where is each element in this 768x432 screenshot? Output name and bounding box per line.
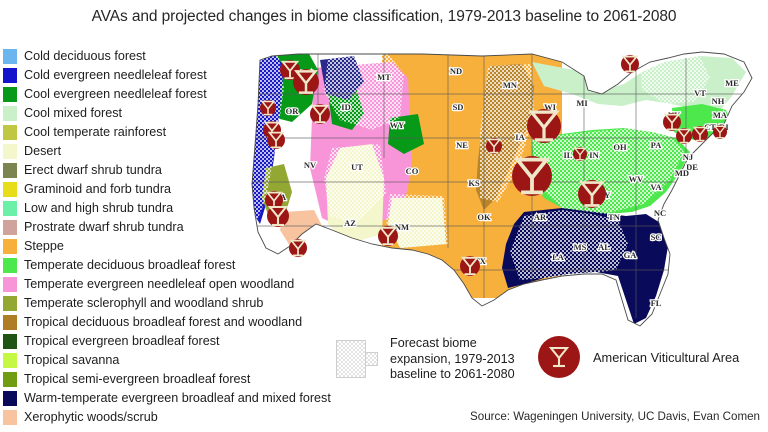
legend-color-swatch <box>3 277 17 292</box>
ava-marker[interactable] <box>578 180 606 208</box>
legend-item: Low and high shrub tundra <box>3 199 387 218</box>
state-label: ND <box>450 66 462 76</box>
legend-item: Prostrate dwarf shrub tundra <box>3 218 387 237</box>
legend-color-swatch <box>3 239 17 254</box>
ava-marker[interactable] <box>527 109 561 143</box>
state-label: OK <box>477 212 491 222</box>
forecast-line-2: expansion, 1979-2013 <box>390 352 515 368</box>
ava-marker[interactable] <box>460 256 480 276</box>
state-label: VT <box>694 88 706 98</box>
legend-color-swatch <box>3 353 17 368</box>
legend-item: Temperate deciduous broadleaf forest <box>3 256 387 275</box>
state-label: SD <box>453 102 464 112</box>
legend-color-swatch <box>3 201 17 216</box>
legend-item: Tropical savanna <box>3 351 387 370</box>
legend-item: Cold deciduous forest <box>3 47 387 66</box>
legend-item: Cool temperate rainforest <box>3 123 387 142</box>
state-label: IA <box>515 132 525 142</box>
legend-color-swatch <box>3 391 17 406</box>
state-label: AR <box>534 212 547 222</box>
state-label: TN <box>608 212 621 222</box>
legend-item: Graminoid and forb tundra <box>3 180 387 199</box>
state-label: PA <box>651 140 663 150</box>
legend-color-swatch <box>3 49 17 64</box>
biome-legend: Cold deciduous forestCold evergreen need… <box>3 47 387 427</box>
state-label: NH <box>712 96 725 106</box>
legend-item: Tropical evergreen broadleaf forest <box>3 332 387 351</box>
state-label: GA <box>624 250 638 260</box>
state-label: MS <box>574 242 587 252</box>
state-label: ME <box>725 78 739 88</box>
ava-marker[interactable] <box>692 126 708 142</box>
page-title: AVAs and projected changes in biome clas… <box>0 8 768 26</box>
legend-item-label: Tropical semi-evergreen broadleaf forest <box>24 370 250 389</box>
legend-item-label: Tropical savanna <box>24 351 119 370</box>
legend-item-label: Cool temperate rainforest <box>24 123 166 142</box>
legend-item-label: Tropical deciduous broadleaf forest and … <box>24 313 302 332</box>
legend-color-swatch <box>3 315 17 330</box>
state-label: MN <box>503 80 518 90</box>
legend-item: Tropical deciduous broadleaf forest and … <box>3 313 387 332</box>
legend-item-label: Steppe <box>24 237 64 256</box>
state-label: KS <box>468 178 480 188</box>
legend-color-swatch <box>3 106 17 121</box>
ava-marker[interactable] <box>663 113 681 131</box>
state-label: MA <box>713 110 728 120</box>
state-label: OH <box>613 142 627 152</box>
legend-item-label: Graminoid and forb tundra <box>24 180 171 199</box>
legend-item-label: Warm-temperate evergreen broadleaf and m… <box>24 389 331 408</box>
legend-item-label: Low and high shrub tundra <box>24 199 173 218</box>
legend-color-swatch <box>3 163 17 178</box>
ava-marker[interactable] <box>676 128 692 144</box>
legend-item: Tropical semi-evergreen broadleaf forest <box>3 370 387 389</box>
legend-color-swatch <box>3 144 17 159</box>
ava-key: American Viticultural Area <box>538 336 739 378</box>
legend-color-swatch <box>3 125 17 140</box>
ava-key-label: American Viticultural Area <box>593 350 739 365</box>
ava-marker[interactable] <box>512 156 552 196</box>
state-label: WV <box>629 174 645 184</box>
state-label: VA <box>650 182 662 192</box>
state-label: NE <box>456 140 468 150</box>
legend-color-swatch <box>3 68 17 83</box>
legend-item: Cool evergreen needleleaf forest <box>3 85 387 104</box>
legend-color-swatch <box>3 410 17 425</box>
legend-item-label: Erect dwarf shrub tundra <box>24 161 162 180</box>
state-label: CO <box>406 166 419 176</box>
legend-item: Temperate evergreen needleleaf open wood… <box>3 275 387 294</box>
state-label: LA <box>552 252 565 262</box>
legend-item: Temperate sclerophyll and woodland shrub <box>3 294 387 313</box>
legend-color-swatch <box>3 258 17 273</box>
legend-item-label: Desert <box>24 142 61 161</box>
state-label: SC <box>651 232 662 242</box>
state-label: FL <box>651 298 662 308</box>
legend-item: Cool mixed forest <box>3 104 387 123</box>
state-label: MD <box>675 168 689 178</box>
state-label: IL <box>564 150 573 160</box>
state-label: WY <box>390 120 405 130</box>
state-label: IN <box>589 150 599 160</box>
legend-item-label: Cool evergreen needleleaf forest <box>24 85 207 104</box>
legend-item-label: Xerophytic woods/scrub <box>24 408 158 427</box>
legend-color-swatch <box>3 220 17 235</box>
legend-item-label: Tropical evergreen broadleaf forest <box>24 332 220 351</box>
ava-marker[interactable] <box>621 55 639 73</box>
forecast-line-3: baseline to 2061-2080 <box>390 367 515 383</box>
source-note: Source: Wageningen University, UC Davis,… <box>470 410 760 423</box>
legend-item-label: Temperate deciduous broadleaf forest <box>24 256 235 275</box>
state-label: MI <box>576 98 588 108</box>
legend-item-label: Cool mixed forest <box>24 104 122 123</box>
legend-item-label: Temperate evergreen needleleaf open wood… <box>24 275 294 294</box>
legend-color-swatch <box>3 182 17 197</box>
legend-item: Xerophytic woods/scrub <box>3 408 387 427</box>
ava-marker[interactable] <box>713 125 727 139</box>
legend-color-swatch <box>3 296 17 311</box>
legend-item-label: Temperate sclerophyll and woodland shrub <box>24 294 263 313</box>
wine-glass-icon <box>548 345 570 369</box>
legend-color-swatch <box>3 87 17 102</box>
legend-item-label: Prostrate dwarf shrub tundra <box>24 218 184 237</box>
ava-marker[interactable] <box>573 147 587 161</box>
forecast-line-1: Forecast biome <box>390 336 515 352</box>
legend-color-swatch <box>3 372 17 387</box>
state-label: NC <box>654 208 666 218</box>
ava-marker-badge <box>538 336 580 378</box>
forecast-key-text: Forecast biome expansion, 1979-2013 base… <box>390 336 515 383</box>
legend-item: Cold evergreen needleleaf forest <box>3 66 387 85</box>
legend-color-swatch <box>3 334 17 349</box>
state-label: NJ <box>683 152 694 162</box>
state-label: AL <box>598 242 610 252</box>
legend-item: Warm-temperate evergreen broadleaf and m… <box>3 389 387 408</box>
legend-item-label: Cold evergreen needleleaf forest <box>24 66 207 85</box>
legend-item: Erect dwarf shrub tundra <box>3 161 387 180</box>
ava-marker[interactable] <box>486 138 502 154</box>
legend-item: Desert <box>3 142 387 161</box>
legend-item-label: Cold deciduous forest <box>24 47 146 66</box>
legend-item: Steppe <box>3 237 387 256</box>
